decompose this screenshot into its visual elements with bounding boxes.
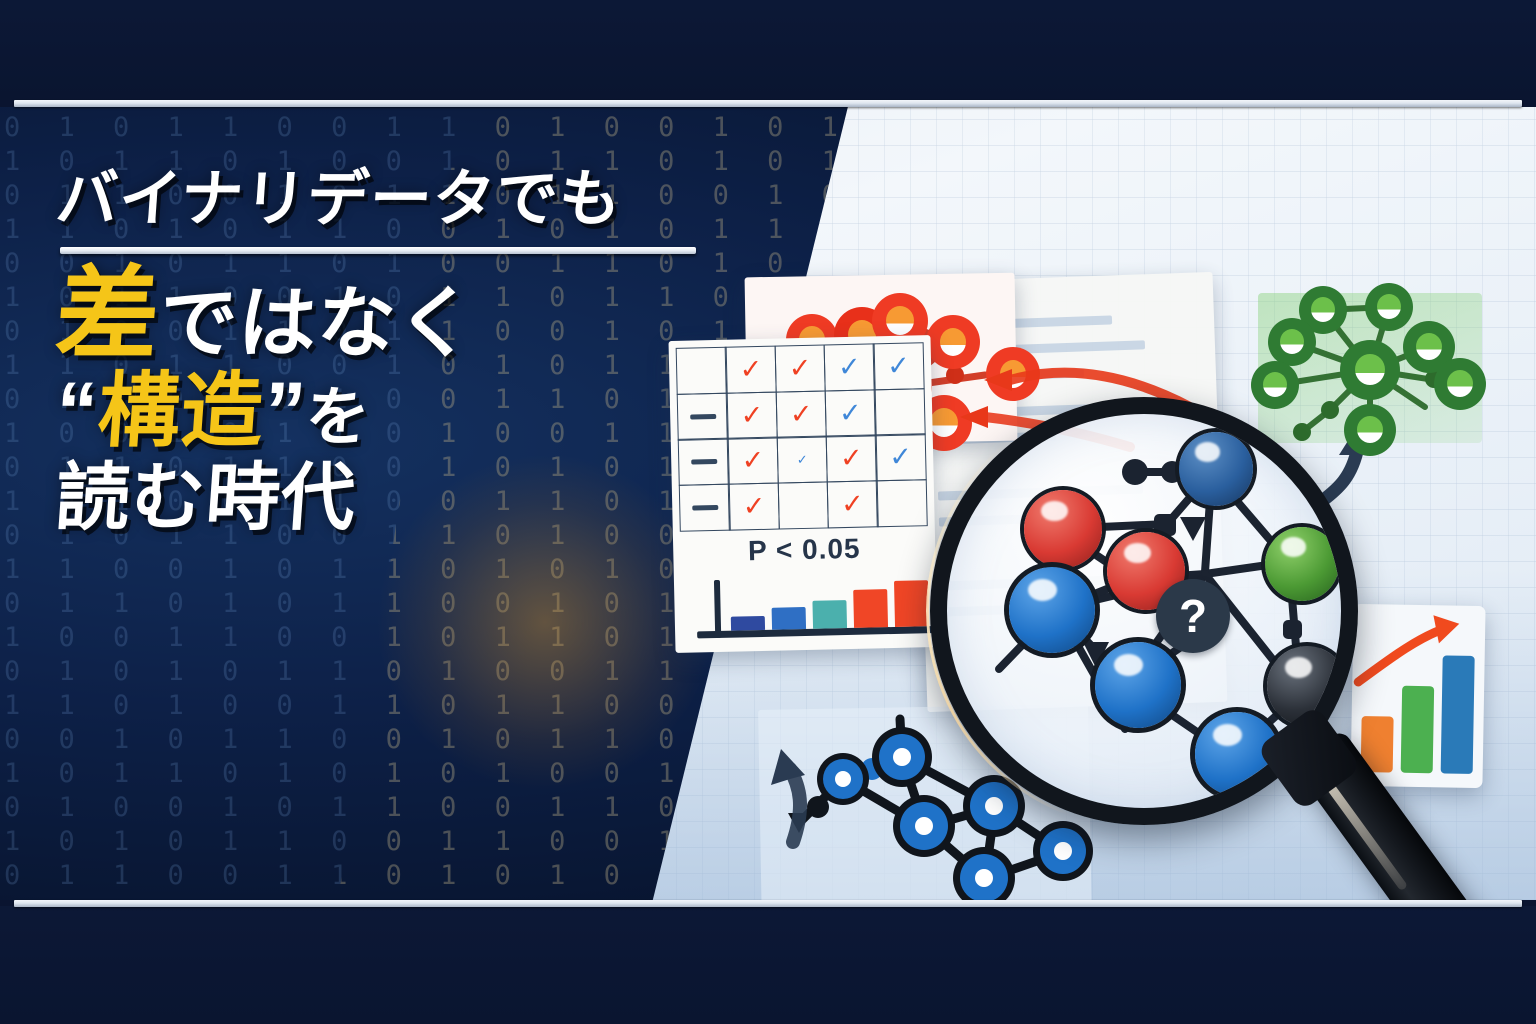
thumbnail-canvas: ? ✓ ✓ ✓ ✓ ✓ ✓ ✓ ✓ ✓ ✓ (0, 0, 1536, 1024)
headline-block: バイナリデータでも 差ではなく “構造”を 読む時代 (56, 169, 756, 535)
table-cell: ✓ (824, 389, 876, 437)
question-mark-node: ? (1156, 579, 1230, 653)
table-cell: ✓ (827, 480, 879, 528)
node-green-right (1265, 527, 1339, 601)
bar-4 (853, 589, 888, 628)
table-cell: ✓ (875, 433, 927, 481)
top-frame-band (0, 0, 1536, 100)
bottom-frame-band (0, 906, 1536, 1024)
table-cell: ✓ (823, 344, 875, 392)
bar-3 (812, 600, 847, 629)
headline-accent-kouzou: 構造 (95, 366, 267, 457)
quote-open: “ (53, 366, 101, 457)
headline-line-2: 差ではなく (52, 264, 759, 367)
table-cell: ✓ (825, 435, 877, 483)
node-red-upper-left (1024, 490, 1102, 568)
table-cell: ✓ (776, 436, 828, 484)
headline-line-2-rest: ではなく (156, 279, 478, 367)
headline-line-1: バイナリデータでも (54, 169, 758, 231)
node-blue-center (1095, 642, 1181, 728)
table-cell: ✓ (774, 345, 826, 393)
question-mark-label: ? (1179, 593, 1207, 639)
significance-bar-chart (688, 571, 927, 638)
bar-2 (772, 607, 806, 629)
inner-scene: ? ✓ ✓ ✓ ✓ ✓ ✓ ✓ ✓ ✓ ✓ (0, 107, 1536, 900)
headline-divider (60, 247, 696, 254)
headline-line-3: “構造”を (53, 371, 759, 453)
bottom-accent-line (14, 900, 1522, 907)
table-cell (876, 479, 928, 527)
table-cell: ✓ (873, 342, 925, 390)
bar-1 (731, 616, 765, 631)
headline-line-3-rest: を (303, 381, 373, 453)
node-blue-top (1179, 432, 1253, 506)
bar-5 (894, 580, 929, 627)
table-cell: ✓ (775, 390, 827, 438)
headline-line-4: 読む時代 (53, 461, 758, 535)
table-cell (874, 388, 926, 436)
node-blue-left (1009, 567, 1095, 653)
table-cell (777, 481, 829, 529)
p-value-label: P < 0.05 (673, 531, 936, 569)
top-accent-line (14, 100, 1522, 107)
headline-accent-sa: 差 (52, 257, 164, 372)
quote-close: ” (261, 366, 309, 457)
